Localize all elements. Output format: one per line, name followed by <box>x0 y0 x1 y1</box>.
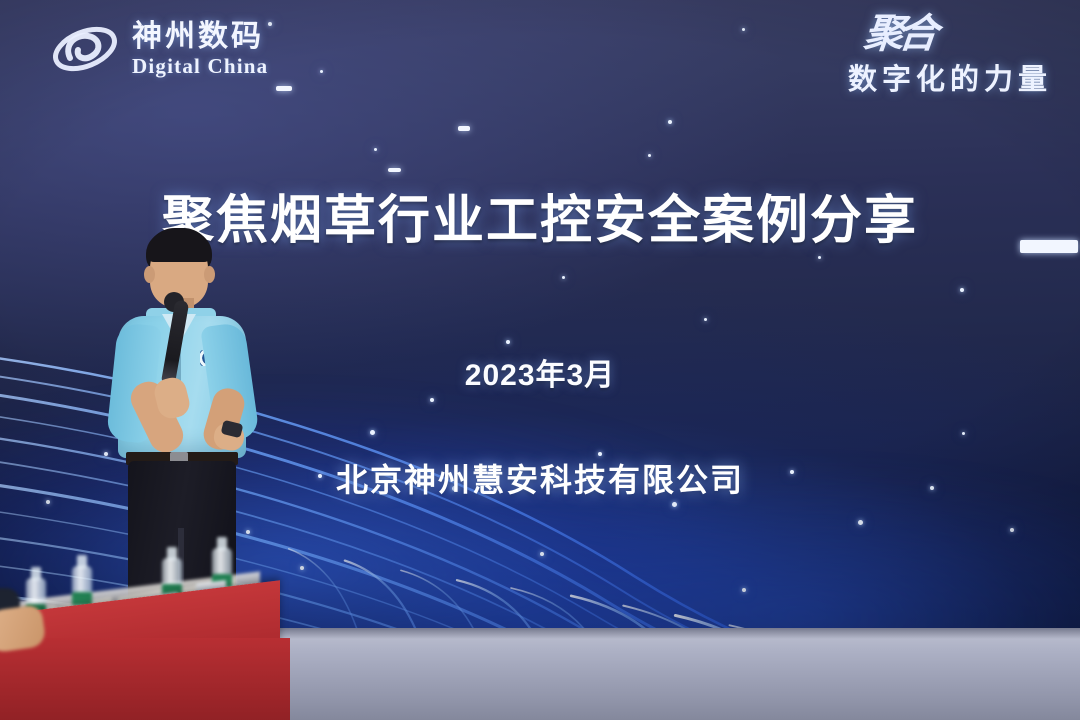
digital-china-logo: 神州数码 Digital China <box>48 18 268 80</box>
logo-name-cn: 神州数码 <box>132 22 268 52</box>
conference-photo: 神州数码 Digital China 聚合 数字化的力量 聚焦烟草行业工控安全案… <box>0 0 1080 720</box>
slogan-subtitle: 数字化的力量 <box>848 56 1052 98</box>
logo-name-en: Digital China <box>132 56 268 77</box>
speaker-ear-left <box>144 266 155 283</box>
digital-china-swirl-icon <box>48 18 122 80</box>
speaker-hair-top <box>146 232 212 262</box>
speaker-ear-right <box>204 266 215 283</box>
event-slogan: 聚合 数字化的力量 <box>848 16 1052 98</box>
slogan-brush-text: 聚合 <box>862 16 934 52</box>
red-tablecloth-front <box>0 638 290 720</box>
front-row-table <box>0 560 290 720</box>
